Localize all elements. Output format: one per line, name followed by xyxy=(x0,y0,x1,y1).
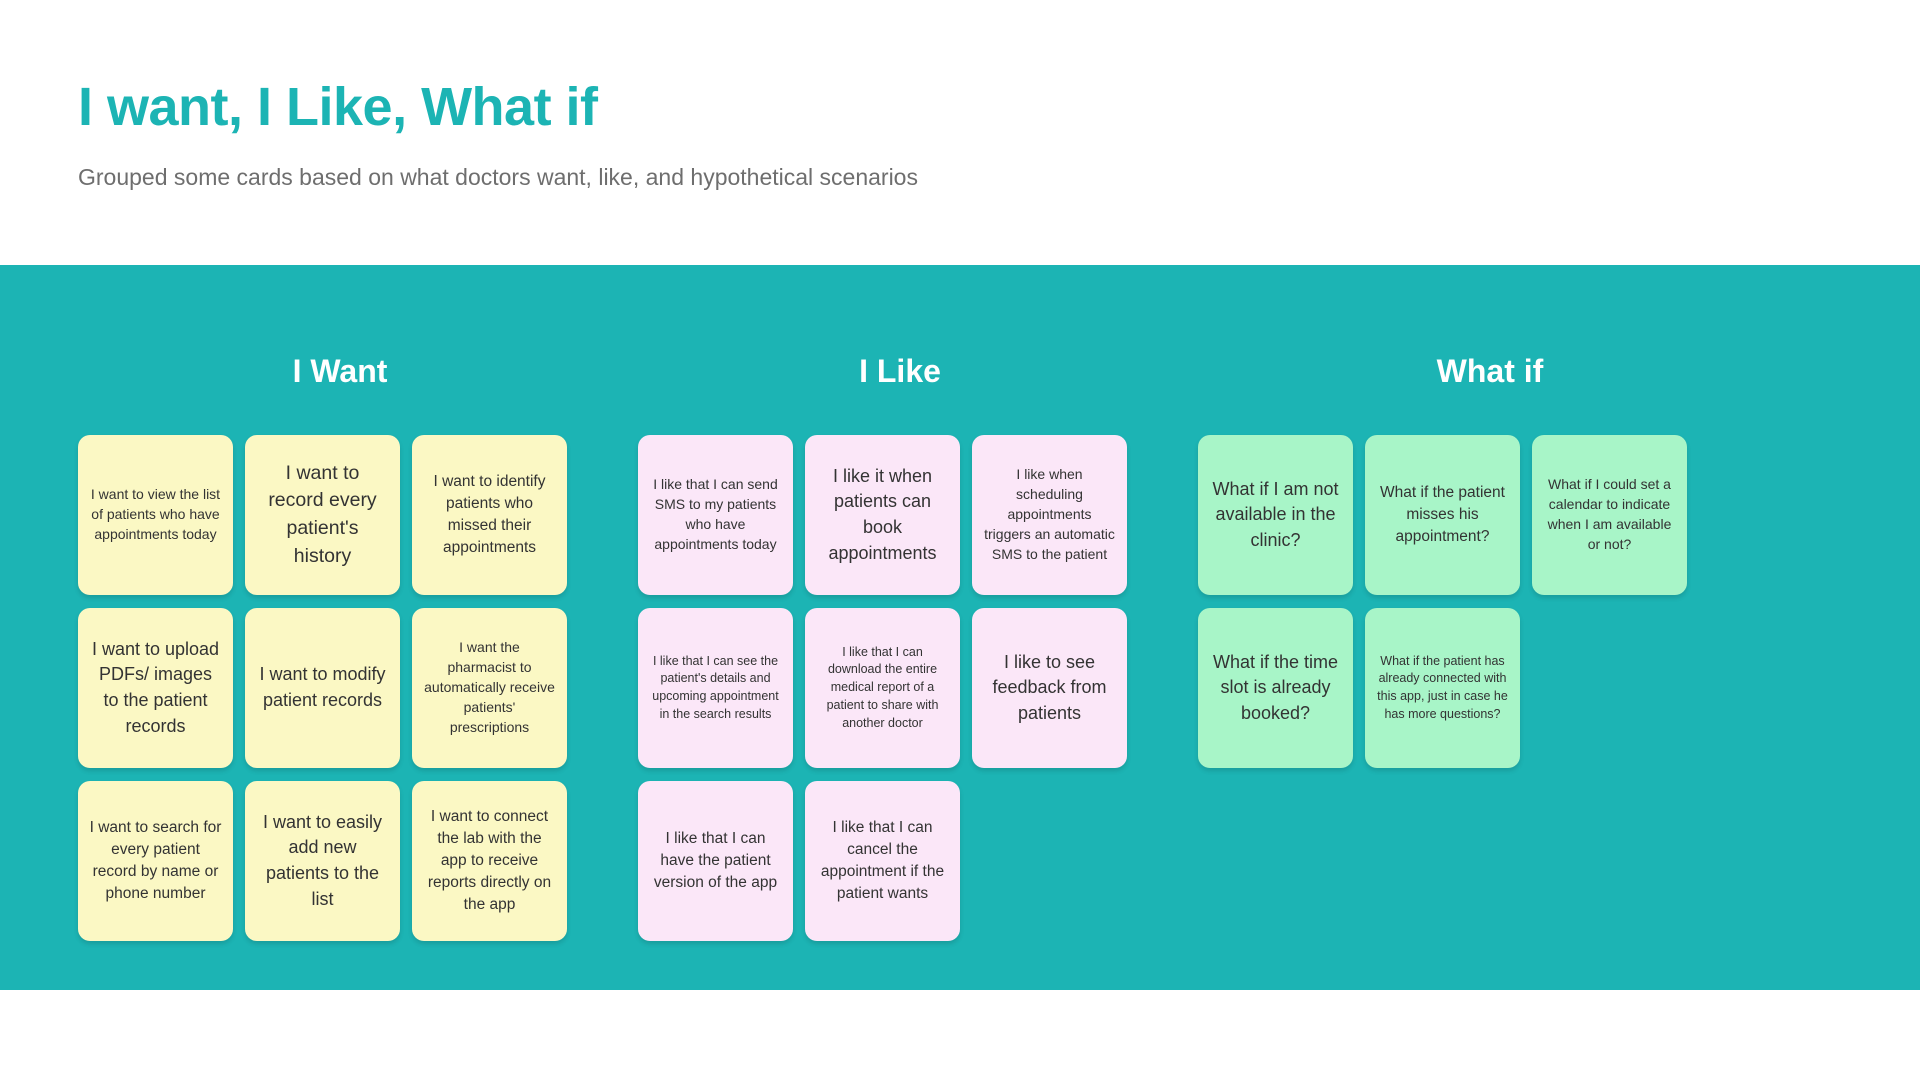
sticky-note-card[interactable]: What if the patient has already connecte… xyxy=(1365,608,1520,768)
card-group-what-if: What if I am not available in the clinic… xyxy=(1180,435,1800,768)
sticky-note-card[interactable]: I want to view the list of patients who … xyxy=(78,435,233,595)
column-title-i-like: I Like xyxy=(859,355,941,387)
column-i-like: I Like I like that I can send SMS to my … xyxy=(620,265,1180,990)
sticky-note-card[interactable]: What if I am not available in the clinic… xyxy=(1198,435,1353,595)
sticky-note-card[interactable]: I like when scheduling appointments trig… xyxy=(972,435,1127,595)
sticky-note-card[interactable]: I want to connect the lab with the app t… xyxy=(412,781,567,941)
sticky-note-card[interactable]: I like that I can cancel the appointment… xyxy=(805,781,960,941)
sticky-note-card[interactable]: I want to upload PDFs/ images to the pat… xyxy=(78,608,233,768)
column-i-want: I Want I want to view the list of patien… xyxy=(60,265,620,990)
card-group-i-like: I like that I can send SMS to my patient… xyxy=(620,435,1180,941)
sticky-note-card[interactable]: I want to modify patient records xyxy=(245,608,400,768)
card-group-i-want: I want to view the list of patients who … xyxy=(60,435,620,941)
page-subtitle: Grouped some cards based on what doctors… xyxy=(78,163,1920,193)
sticky-note-card[interactable]: I want the pharmacist to automatically r… xyxy=(412,608,567,768)
sticky-note-card[interactable]: I like that I can see the patient's deta… xyxy=(638,608,793,768)
sticky-note-card[interactable]: I like that I can send SMS to my patient… xyxy=(638,435,793,595)
sticky-note-card[interactable]: I want to easily add new patients to the… xyxy=(245,781,400,941)
slide-canvas: I want, I Like, What if Grouped some car… xyxy=(0,0,1920,1080)
slide-header: I want, I Like, What if Grouped some car… xyxy=(0,0,1920,193)
columns-container: I Want I want to view the list of patien… xyxy=(0,265,1920,990)
page-title: I want, I Like, What if xyxy=(78,78,1920,137)
column-title-what-if: What if xyxy=(1437,355,1544,387)
sticky-note-card[interactable]: I like that I can have the patient versi… xyxy=(638,781,793,941)
sticky-note-card[interactable]: I like to see feedback from patients xyxy=(972,608,1127,768)
sticky-note-card[interactable]: What if the patient misses his appointme… xyxy=(1365,435,1520,595)
sticky-note-card[interactable]: I want to record every patient's history xyxy=(245,435,400,595)
sticky-note-card[interactable]: What if the time slot is already booked? xyxy=(1198,608,1353,768)
sticky-note-card[interactable]: I like that I can download the entire me… xyxy=(805,608,960,768)
cards-board: I Want I want to view the list of patien… xyxy=(0,265,1920,990)
column-what-if: What if What if I am not available in th… xyxy=(1180,265,1800,990)
sticky-note-card[interactable]: I want to identify patients who missed t… xyxy=(412,435,567,595)
sticky-note-card[interactable]: I want to search for every patient recor… xyxy=(78,781,233,941)
sticky-note-card[interactable]: I like it when patients can book appoint… xyxy=(805,435,960,595)
column-title-i-want: I Want xyxy=(293,355,388,387)
sticky-note-card[interactable]: What if I could set a calendar to indica… xyxy=(1532,435,1687,595)
